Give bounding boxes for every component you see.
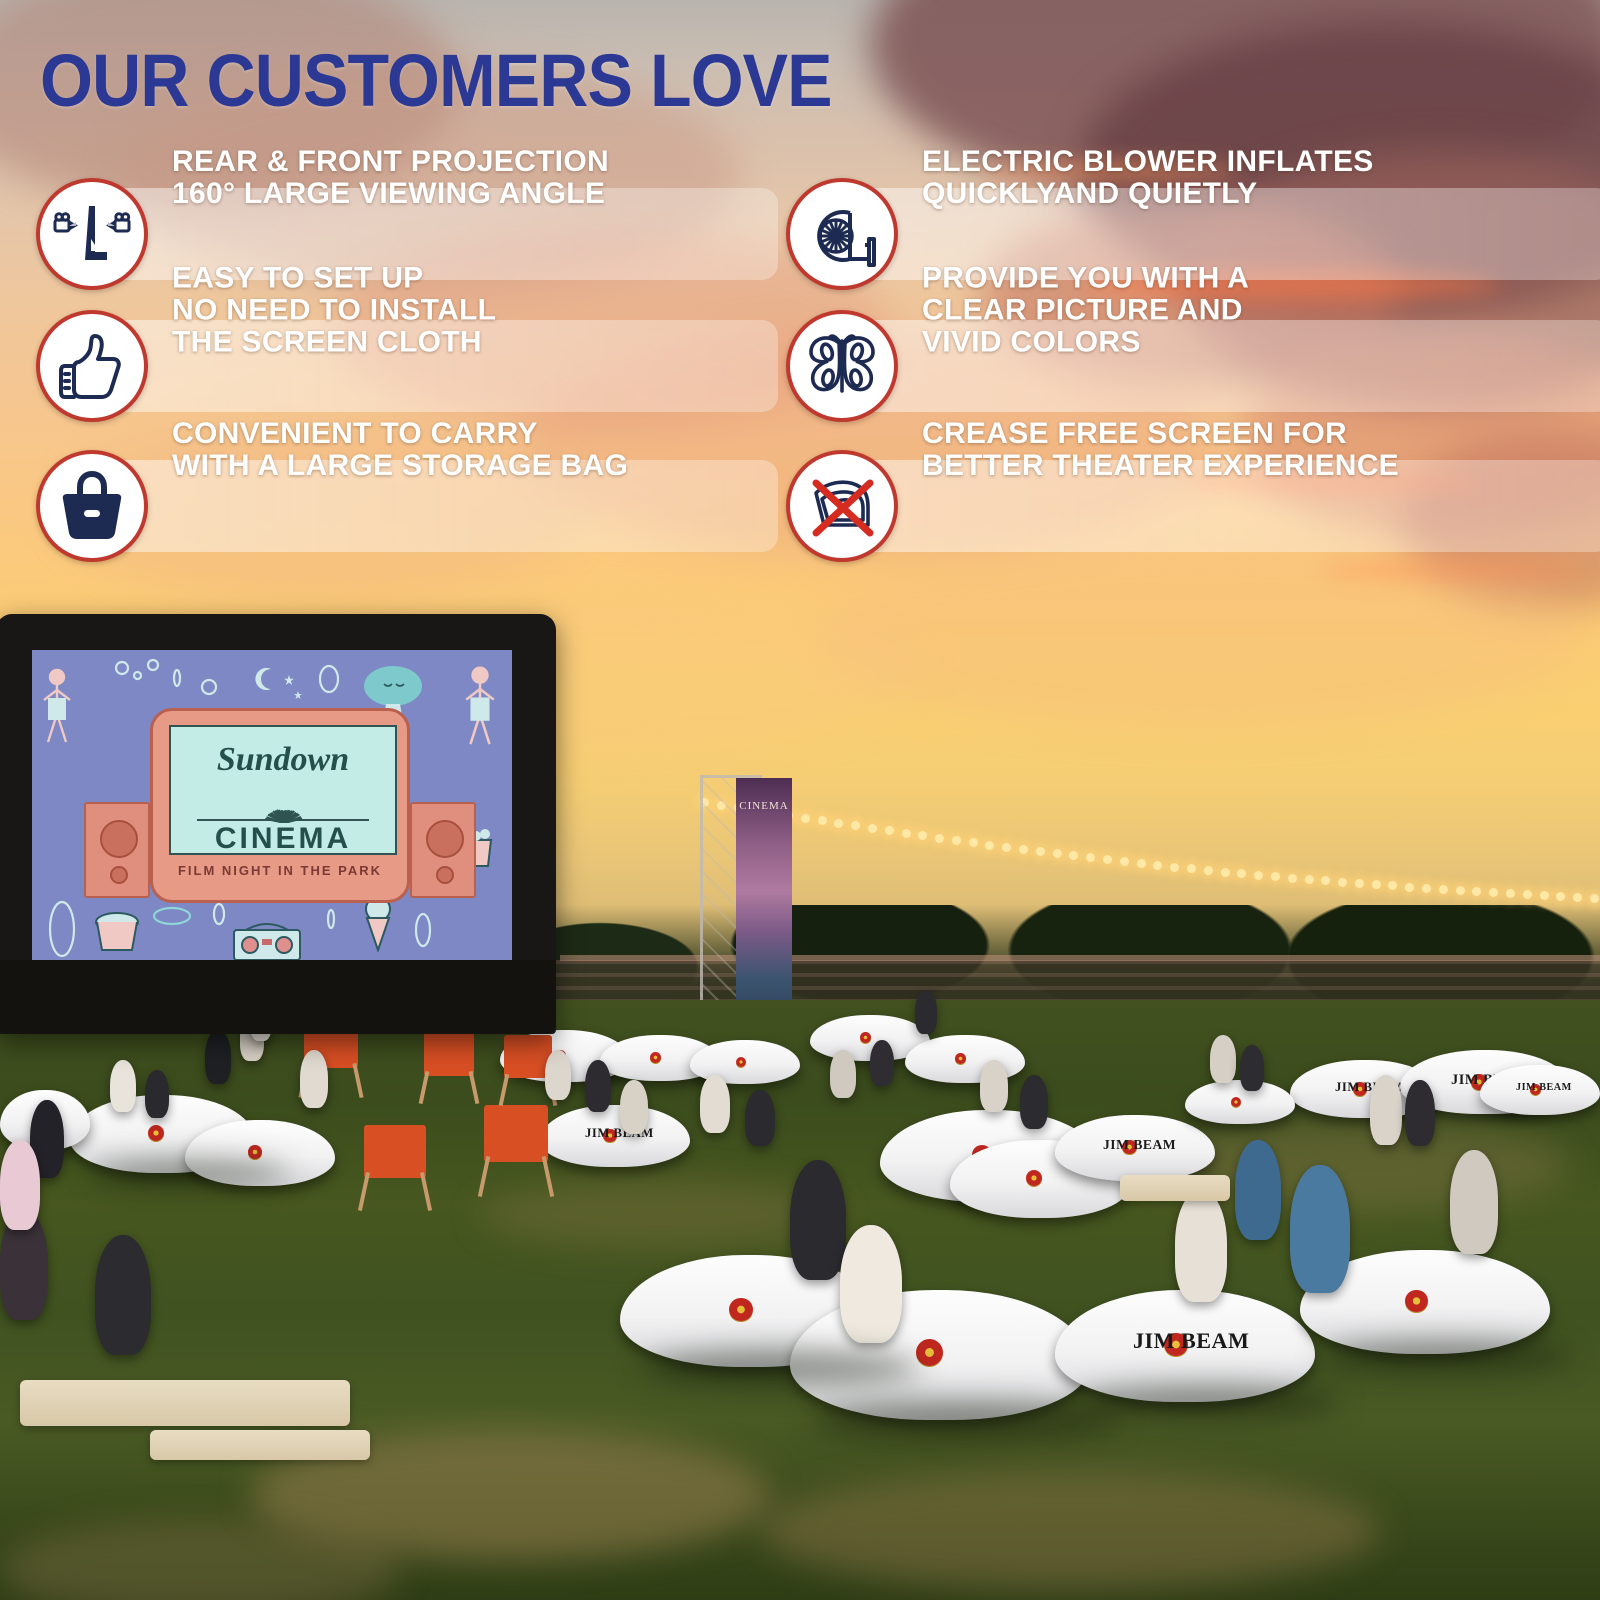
feature-text-line: THE SCREEN CLOTH [172, 326, 496, 358]
storage-bag-icon [58, 470, 126, 542]
butterfly-icon-badge [786, 310, 898, 422]
no-iron-icon [804, 473, 880, 539]
feature-text-line: EASY TO SET UP [172, 262, 496, 294]
feature-text-line: BETTER THEATER EXPERIENCE [922, 450, 1399, 482]
butterfly-icon [803, 333, 881, 399]
marketing-overlay: OUR CUSTOMERS LOVE REAR & FRONT PROJECTI… [0, 0, 1600, 1600]
feature-text: ELECTRIC BLOWER INFLATESQUICKLYAND QUIET… [922, 146, 1374, 210]
feature-text-line: 160° LARGE VIEWING ANGLE [172, 178, 609, 210]
thumbs-up-icon-badge [36, 310, 148, 422]
feature-text: CONVENIENT TO CARRYWITH A LARGE STORAGE … [172, 418, 628, 482]
feature-text-line: REAR & FRONT PROJECTION [172, 146, 609, 178]
storage-bag-icon-badge [36, 450, 148, 562]
feature-text-line: CONVENIENT TO CARRY [172, 418, 628, 450]
feature-text-line: QUICKLYAND QUIETLY [922, 178, 1374, 210]
blower-fan-icon [803, 201, 881, 267]
feature-text: REAR & FRONT PROJECTION160° LARGE VIEWIN… [172, 146, 609, 210]
projection-screen-icon-badge [36, 178, 148, 290]
feature-text-line: ELECTRIC BLOWER INFLATES [922, 146, 1374, 178]
page-title: OUR CUSTOMERS LOVE [40, 46, 832, 116]
blower-fan-icon-badge [786, 178, 898, 290]
no-iron-icon-badge [786, 450, 898, 562]
feature-text-line: VIVID COLORS [922, 326, 1249, 358]
thumbs-up-icon [57, 330, 127, 402]
feature-text-line: NO NEED TO INSTALL [172, 294, 496, 326]
feature-text: PROVIDE YOU WITH ACLEAR PICTURE ANDVIVID… [922, 262, 1249, 357]
feature-text: CREASE FREE SCREEN FORBETTER THEATER EXP… [922, 418, 1399, 482]
projection-screen-icon [52, 203, 132, 265]
feature-text-line: WITH A LARGE STORAGE BAG [172, 450, 628, 482]
feature-text-line: CREASE FREE SCREEN FOR [922, 418, 1399, 450]
feature-text-line: CLEAR PICTURE AND [922, 294, 1249, 326]
product-feature-poster: CINEMA JIM BEAMJIM BEAMJIM BEAMJIM BEAMJ… [0, 0, 1600, 1600]
feature-text-line: PROVIDE YOU WITH A [922, 262, 1249, 294]
feature-text: EASY TO SET UPNO NEED TO INSTALLTHE SCRE… [172, 262, 496, 357]
